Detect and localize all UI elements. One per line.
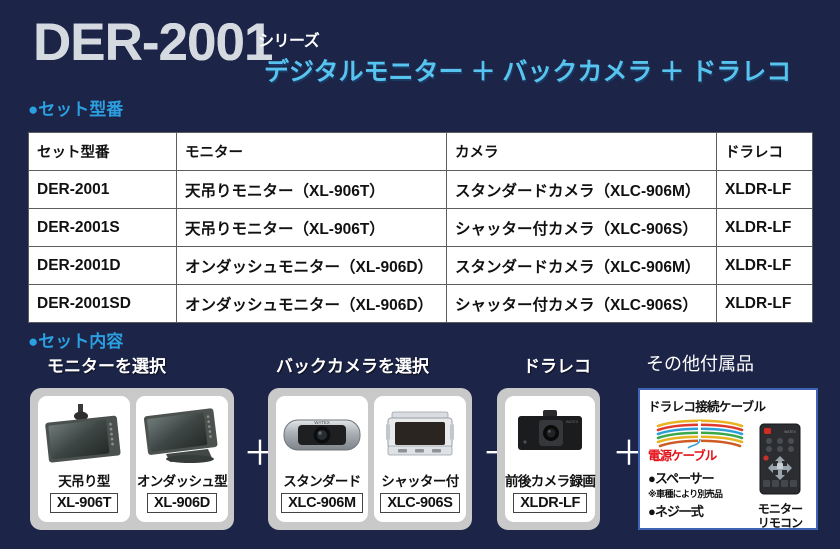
card-model: XL-906T xyxy=(50,493,118,513)
table-header-cell: ドラレコ xyxy=(717,133,813,171)
table-cell-drareco: XLDR-LF xyxy=(717,285,813,323)
card-name: スタンダード xyxy=(283,470,360,490)
table-cell-set-model: DER-2001D xyxy=(29,247,177,285)
table-header-row: セット型番 モニター カメラ ドラレコ xyxy=(29,133,813,171)
group-title-other-accessories: その他付属品 xyxy=(646,350,754,376)
group-title-monitor: モニターを選択 xyxy=(47,352,166,377)
product-card-shutter-camera[interactable]: シャッター付 XLC-906S xyxy=(374,396,466,522)
card-name: オンダッシュ型 xyxy=(137,470,227,490)
accessory-item-spacer: ●スペーサー xyxy=(648,468,752,487)
table-cell-set-model: DER-2001S xyxy=(29,209,177,247)
standard-camera-image: WATEX xyxy=(276,401,368,469)
monitor-remote-image: WATEX xyxy=(757,423,803,500)
section-label-model-numbers: ●セット型番 xyxy=(28,95,123,120)
accessories-body: 電源ケーブル ●スペーサー ※車種により別売品 ●ネジ一式 WATEX xyxy=(648,417,808,531)
table-cell-camera: シャッター付カメラ（XLC-906S） xyxy=(447,209,717,247)
table-cell-camera: スタンダードカメラ（XLC-906M） xyxy=(447,171,717,209)
dash-monitor-image xyxy=(136,401,228,469)
table-row: DER-2001SD オンダッシュモニター（XL-906D） シャッター付カメラ… xyxy=(29,285,813,323)
table-cell-monitor: 天吊りモニター（XL-906T） xyxy=(177,209,447,247)
table-header-cell: セット型番 xyxy=(29,133,177,171)
product-card-dash-monitor[interactable]: オンダッシュ型 XL-906D xyxy=(136,396,228,522)
table-cell-set-model: DER-2001SD xyxy=(29,285,177,323)
accessories-left-column: 電源ケーブル ●スペーサー ※車種により別売品 ●ネジ一式 xyxy=(648,417,752,531)
title-subtitle: デジタルモニター ＋ バックカメラ ＋ ドラレコ xyxy=(264,52,791,88)
accessories-right-column: WATEX モニター リモコン xyxy=(752,417,808,531)
table-row: DER-2001D オンダッシュモニター（XL-906D） スタンダードカメラ（… xyxy=(29,247,813,285)
table-cell-monitor: オンダッシュモニター（XL-906D） xyxy=(177,285,447,323)
svg-text:WATEX: WATEX xyxy=(314,420,330,425)
title-series-label: シリーズ xyxy=(258,27,319,51)
card-name: 前後カメラ録画 xyxy=(505,470,595,490)
table-header-cell: カメラ xyxy=(447,133,717,171)
card-model: XLDR-LF xyxy=(513,493,587,513)
spec-table-wrapper: セット型番 モニター カメラ ドラレコ DER-2001 天吊りモニター（XL-… xyxy=(28,132,812,323)
accessories-panel-title: ドラレコ接続ケーブル xyxy=(648,396,808,415)
remote-label-line1: モニター xyxy=(758,502,802,516)
table-row: DER-2001S 天吊りモニター（XL-906T） シャッター付カメラ（XLC… xyxy=(29,209,813,247)
power-cable-label: 電源ケーブル xyxy=(648,445,716,464)
group-title-camera: バックカメラを選択 xyxy=(276,352,429,377)
monitor-remote-label: モニター リモコン xyxy=(758,503,802,531)
spec-table: セット型番 モニター カメラ ドラレコ DER-2001 天吊りモニター（XL-… xyxy=(28,132,813,323)
group-title-drareco: ドラレコ xyxy=(523,352,591,377)
card-name: シャッター付 xyxy=(381,470,458,490)
group-monitor: 天吊り型 XL-906T xyxy=(30,388,234,530)
card-model: XLC-906S xyxy=(380,493,459,513)
group-camera: WATEX スタンダード XLC-906M シャッター付 XLC-906S xyxy=(268,388,472,530)
shutter-camera-image xyxy=(374,401,466,469)
svg-text:WATEX: WATEX xyxy=(784,430,796,434)
table-cell-drareco: XLDR-LF xyxy=(717,171,813,209)
accessory-item-screws: ●ネジ一式 xyxy=(648,501,752,520)
table-cell-camera: スタンダードカメラ（XLC-906M） xyxy=(447,247,717,285)
remote-label-line2: リモコン xyxy=(758,516,802,530)
card-name: 天吊り型 xyxy=(58,470,110,490)
card-model: XL-906D xyxy=(147,493,217,513)
page-header: DER-2001 シリーズ デジタルモニター ＋ バックカメラ ＋ ドラレコ xyxy=(0,0,840,92)
table-cell-monitor: オンダッシュモニター（XL-906D） xyxy=(177,247,447,285)
table-cell-set-model: DER-2001 xyxy=(29,171,177,209)
table-row: DER-2001 天吊りモニター（XL-906T） スタンダードカメラ（XLC-… xyxy=(29,171,813,209)
table-cell-camera: シャッター付カメラ（XLC-906S） xyxy=(447,285,717,323)
table-cell-drareco: XLDR-LF xyxy=(717,209,813,247)
table-cell-drareco: XLDR-LF xyxy=(717,247,813,285)
dashcam-image: WATEX xyxy=(505,401,595,469)
group-drareco: WATEX 前後カメラ録画 XLDR-LF xyxy=(497,388,600,530)
ceiling-monitor-image xyxy=(38,401,130,469)
accessories-panel: ドラレコ接続ケーブル 電源ケーブル ●スペーサ xyxy=(638,388,818,530)
section-label-set-contents: ●セット内容 xyxy=(28,327,123,352)
product-card-dashcam[interactable]: WATEX 前後カメラ録画 XLDR-LF xyxy=(505,396,595,522)
table-cell-monitor: 天吊りモニター（XL-906T） xyxy=(177,171,447,209)
svg-text:WATEX: WATEX xyxy=(566,420,579,424)
accessory-note: ※車種により別売品 xyxy=(648,487,752,500)
product-card-ceiling-monitor[interactable]: 天吊り型 XL-906T xyxy=(38,396,130,522)
table-header-cell: モニター xyxy=(177,133,447,171)
page-title: DER-2001 xyxy=(33,16,272,69)
product-card-standard-camera[interactable]: WATEX スタンダード XLC-906M xyxy=(276,396,368,522)
card-model: XLC-906M xyxy=(281,493,363,513)
